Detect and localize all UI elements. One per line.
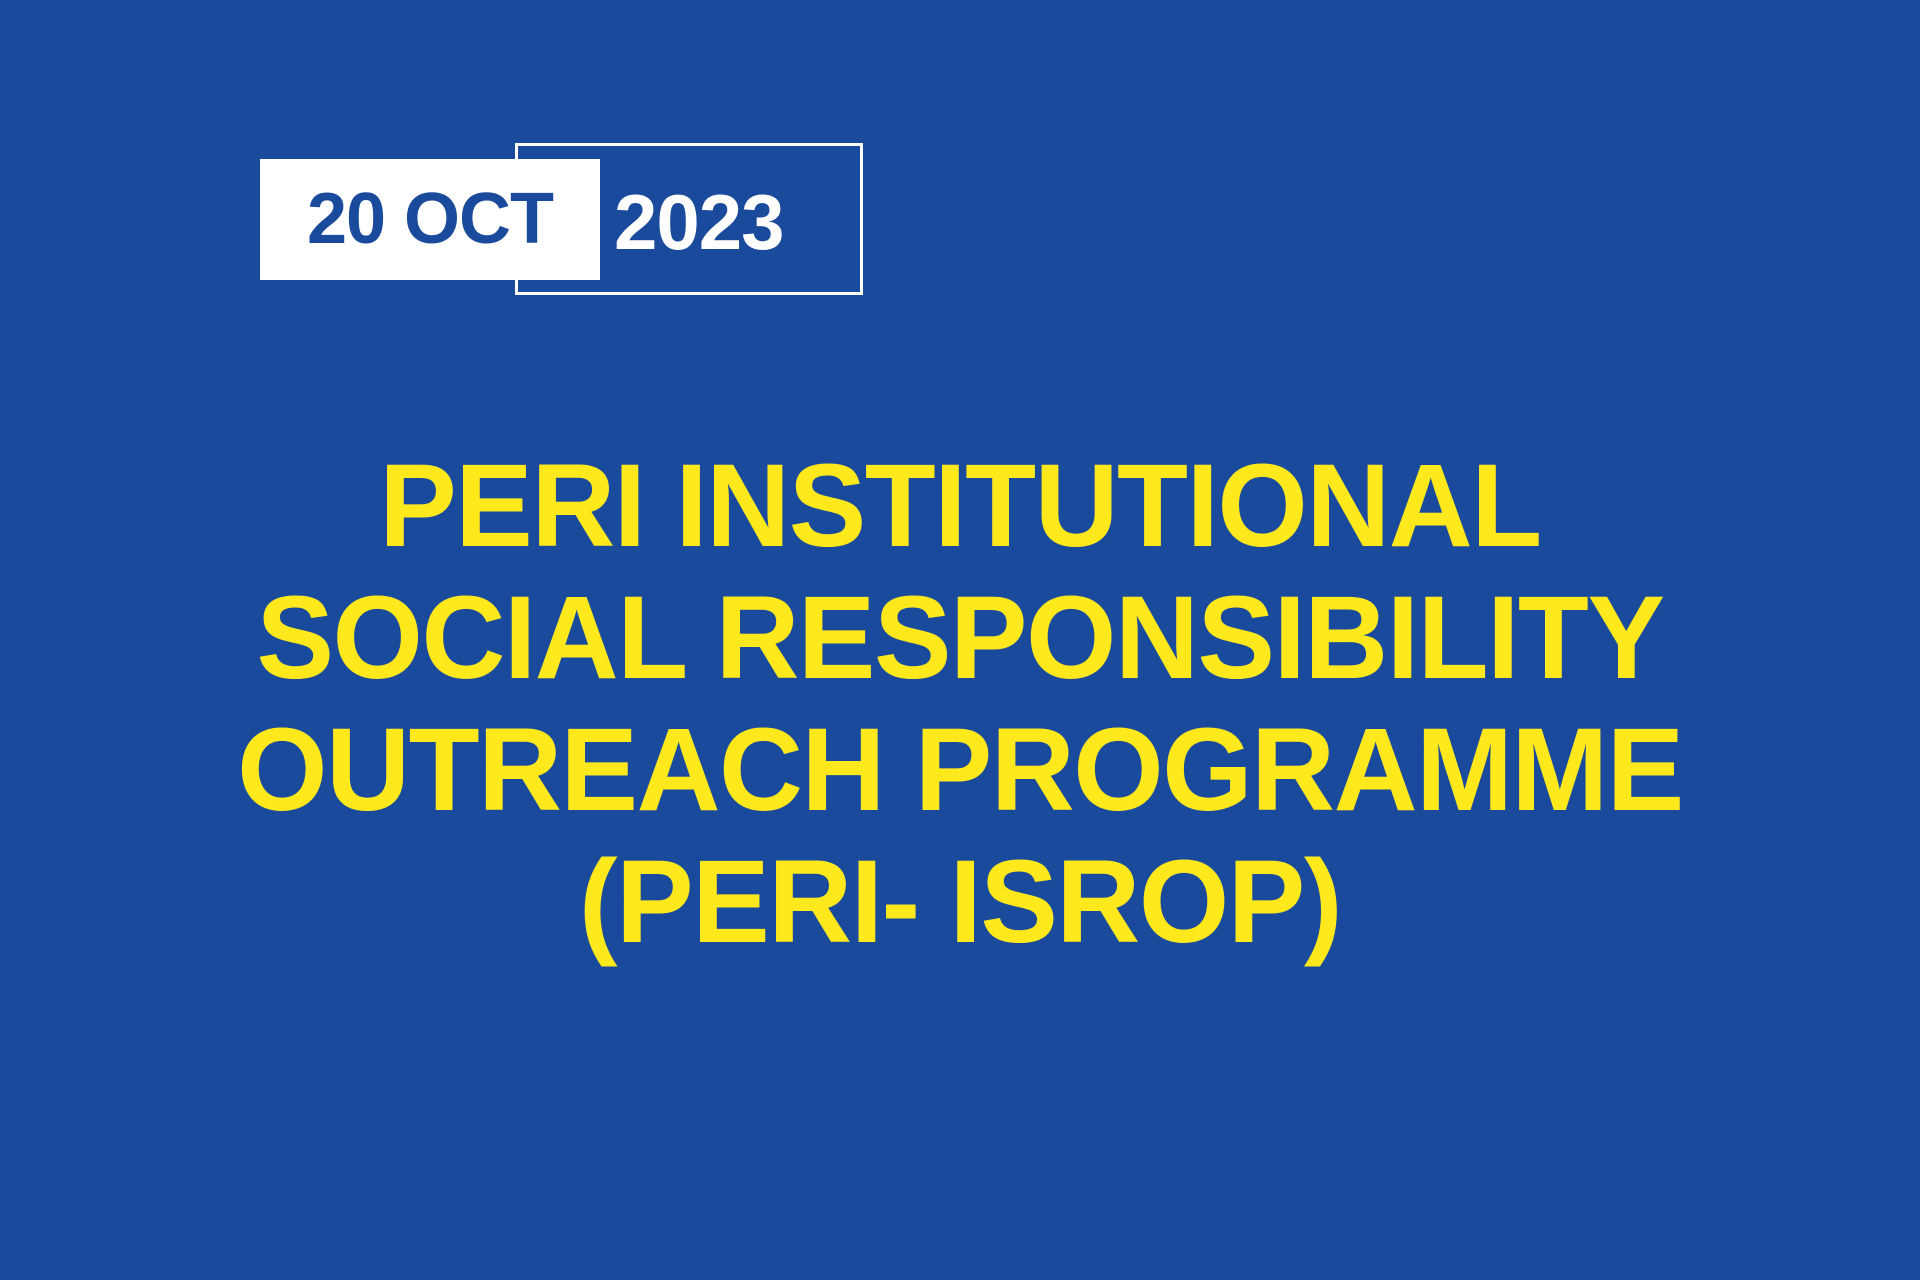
date-badge-daymonth: 20 OCT — [307, 183, 553, 255]
title-line-1: PERI INSTITUTIONAL — [14, 440, 1905, 572]
event-banner: 2023 20 OCT PERI INSTITUTIONAL SOCIAL RE… — [0, 0, 1920, 1280]
title-line-2: SOCIAL RESPONSIBILITY — [14, 572, 1905, 704]
title-line-4: (PERI- ISROP) — [14, 836, 1905, 968]
date-badge-daymonth-box: 20 OCT — [260, 159, 600, 280]
title-line-3: OUTREACH PROGRAMME — [14, 704, 1905, 836]
page-title: PERI INSTITUTIONAL SOCIAL RESPONSIBILITY… — [0, 440, 1920, 968]
